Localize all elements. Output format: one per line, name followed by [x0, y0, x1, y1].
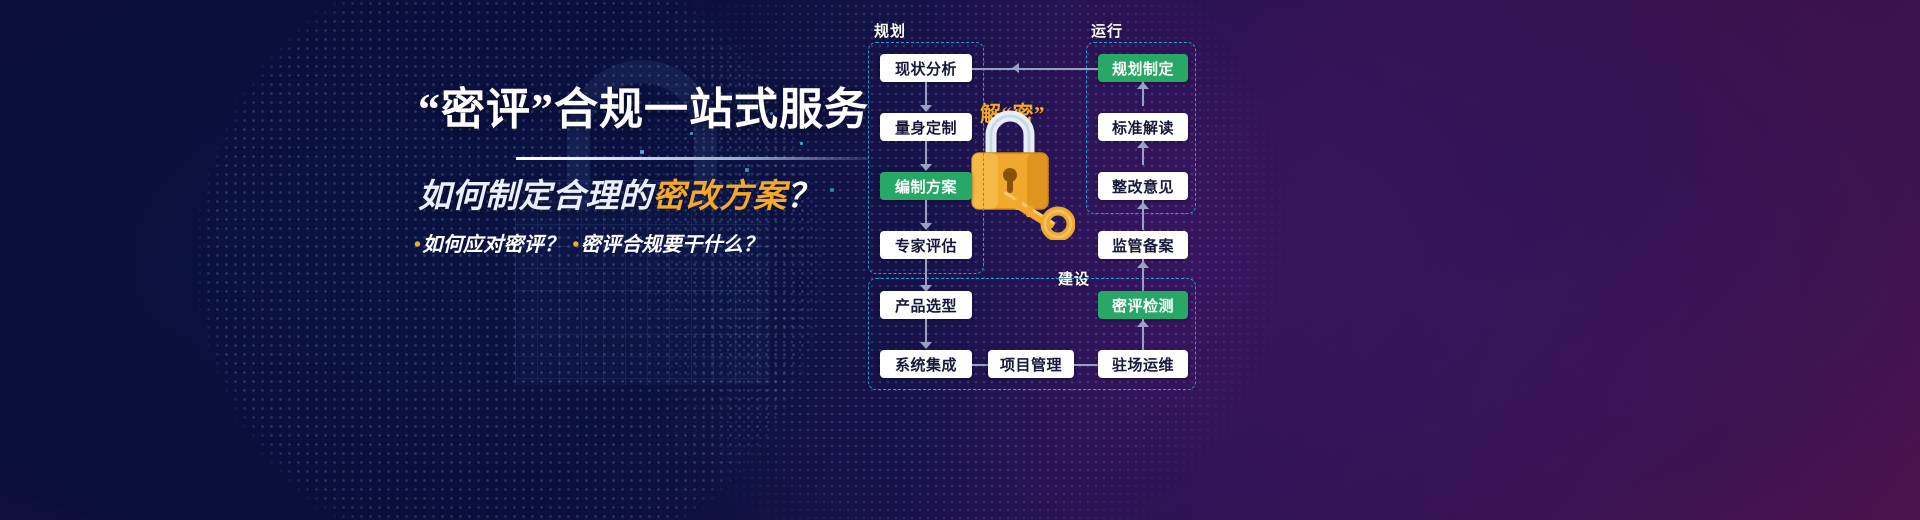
- subtitle-prefix: 如何制定合理的: [418, 179, 653, 215]
- arrow-up-1: [1137, 82, 1149, 89]
- arrow-down-5: [920, 342, 932, 349]
- subtitle: 如何制定合理的密改方案？: [418, 178, 868, 216]
- page-title: “密评”合规一站式服务: [418, 88, 858, 132]
- flow-node-onsite-operations[interactable]: 驻场运维: [1098, 350, 1188, 378]
- flow-node-regulatory-filing[interactable]: 监管备案: [1098, 231, 1188, 259]
- bullet-marker-1: •: [414, 234, 421, 256]
- title-divider: [516, 157, 868, 160]
- arrow-up-4: [1137, 261, 1149, 268]
- flow-node-rectification-opinion[interactable]: 整改意见: [1098, 172, 1188, 200]
- arrow-up-3: [1137, 202, 1149, 209]
- flowchart: 规划 运行 建设 现状分析 量身定制 编制方案 专家评估 产品选型 系统集成 项…: [860, 0, 1220, 520]
- bullet-item-1: 如何应对密评？: [422, 234, 564, 256]
- flow-node-compile-scheme[interactable]: 编制方案: [880, 172, 972, 200]
- flow-node-standard-interpretation[interactable]: 标准解读: [1098, 113, 1188, 141]
- flow-node-mipa-testing[interactable]: 密评检测: [1098, 291, 1188, 319]
- arrow-down-3: [920, 223, 932, 230]
- arrow-up-2: [1137, 141, 1149, 148]
- arrow-up-5: [1137, 320, 1149, 327]
- subtitle-highlight: 密改方案: [653, 179, 787, 215]
- flow-node-product-selection[interactable]: 产品选型: [880, 291, 972, 319]
- arrow-down-1: [920, 105, 932, 112]
- bullet-item-2: 密评合规要干什么？: [581, 234, 764, 256]
- flow-node-project-management[interactable]: 项目管理: [988, 350, 1074, 378]
- flow-node-plan-formulation[interactable]: 规划制定: [1098, 54, 1188, 82]
- flow-group-label-planning: 规划: [874, 20, 906, 41]
- arrow-down-2: [920, 164, 932, 171]
- banner-root: “密评”合规一站式服务 如何制定合理的密改方案？ •如何应对密评？•密评合规要干…: [0, 0, 1920, 520]
- flow-node-tailored-plan[interactable]: 量身定制: [880, 113, 972, 141]
- flow-node-expert-review[interactable]: 专家评估: [880, 231, 972, 259]
- flow-group-label-operation: 运行: [1091, 20, 1123, 41]
- headline-block: “密评”合规一站式服务 如何制定合理的密改方案？ •如何应对密评？•密评合规要干…: [0, 0, 880, 520]
- flow-node-status-analysis[interactable]: 现状分析: [880, 54, 972, 82]
- bullet-list: •如何应对密评？•密评合规要干什么？: [414, 228, 874, 257]
- subtitle-suffix: ？: [787, 179, 821, 215]
- flow-node-system-integration[interactable]: 系统集成: [880, 350, 972, 378]
- bullet-marker-2: •: [572, 234, 579, 256]
- arrow-left-top: [1012, 63, 1019, 73]
